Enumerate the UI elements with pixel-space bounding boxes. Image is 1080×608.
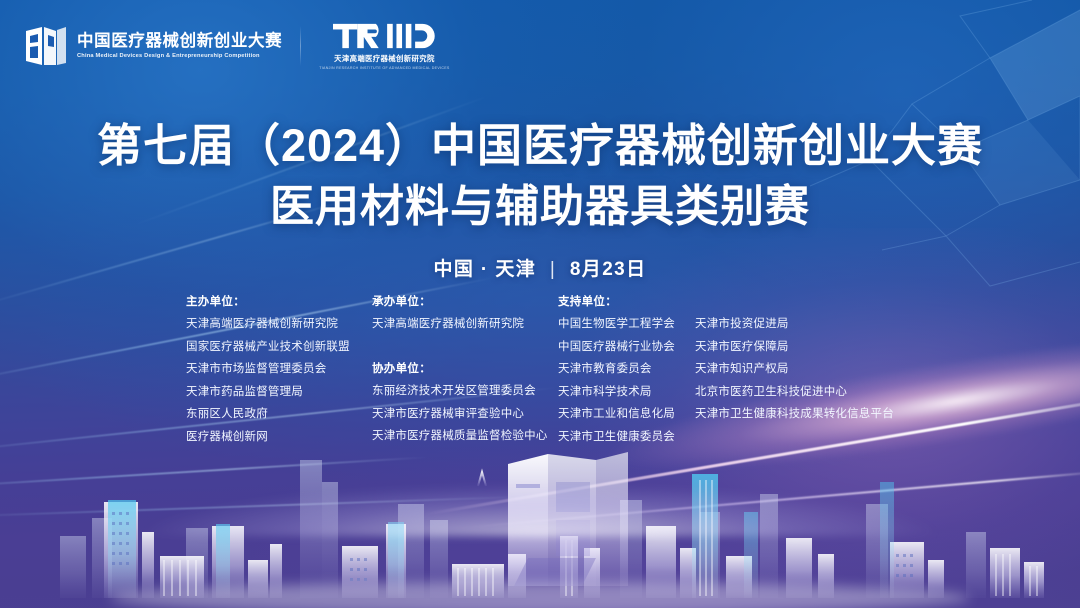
organizer-column-organizers: 承办单位： 天津高端医疗器械创新研究院 协办单位： 东丽经济技术开发区管理委员会…	[372, 291, 558, 448]
organizer-column-supporters-b: 天津市投资促进局 天津市医疗保障局 天津市知识产权局 北京市医药卫生科技促进中心…	[695, 291, 905, 426]
organizer-item: 天津市知识产权局	[695, 358, 905, 380]
organizer-item: 天津市卫生健康科技成果转化信息平台	[695, 403, 905, 425]
organizer-column-supporters-a: 支持单位： 中国生物医学工程学会 中国医疗器械行业协会 天津市教育委员会 天津市…	[558, 291, 695, 448]
organizer-item: 中国生物医学工程学会	[558, 313, 695, 335]
subtitle-line: 中国 · 天津 | 8月23日	[0, 254, 1080, 281]
light-streak	[0, 496, 530, 519]
organizer-column-hosts: 主办单位： 天津高端医疗器械创新研究院 国家医疗器械产业技术创新联盟 天津市市场…	[186, 291, 372, 448]
organizer-item: 东丽区人民政府	[186, 403, 372, 425]
organizer-heading: 承办单位：	[372, 291, 558, 313]
organizers-block: 主办单位： 天津高端医疗器械创新研究院 国家医疗器械产业技术创新联盟 天津市市场…	[186, 291, 905, 448]
title-line-1: 第七届（2024）中国医疗器械创新创业大赛	[0, 118, 1080, 175]
organizer-item: 医疗器械创新网	[186, 426, 372, 448]
organizer-item: 天津市医疗器械审评查验中心	[372, 403, 558, 425]
cmdc-logo-text: 中国医疗器械创新创业大赛 China Medical Devices Desig…	[77, 32, 282, 60]
light-streak	[0, 456, 430, 490]
organizer-item: 天津市教育委员会	[558, 358, 695, 380]
organizer-heading: 协办单位：	[372, 358, 558, 380]
trmd-logo-cn: 天津高端医疗器械创新研究院	[334, 53, 435, 64]
cmdc-logo-en: China Medical Devices Design & Entrepren…	[77, 53, 286, 60]
organizer-gap	[372, 336, 558, 358]
logo-bar: 中国医疗器械创新创业大赛 China Medical Devices Desig…	[24, 22, 450, 70]
open-door-building-icon	[508, 452, 628, 586]
organizer-item: 东丽经济技术开发区管理委员会	[372, 380, 558, 402]
organizer-item: 天津市医疗器械质量监督检验中心	[372, 425, 558, 447]
title-block: 第七届（2024）中国医疗器械创新创业大赛 医用材料与辅助器具类别赛	[0, 118, 1080, 234]
organizer-item: 天津市投资促进局	[695, 313, 905, 335]
trmd-wordmark-icon	[333, 22, 436, 50]
cmdc-logo-cn: 中国医疗器械创新创业大赛	[77, 32, 282, 51]
organizer-item: 天津市工业和信息化局	[558, 403, 695, 425]
subtitle-date: 8月23日	[570, 259, 647, 280]
organizer-item: 中国医疗器械行业协会	[558, 336, 695, 358]
event-poster: 中国医疗器械创新创业大赛 China Medical Devices Desig…	[0, 0, 1080, 608]
subtitle-location: 中国 · 天津	[433, 259, 536, 280]
organizer-item: 天津市药品监督管理局	[186, 381, 372, 403]
title-line-2: 医用材料与辅助器具类别赛	[0, 179, 1080, 234]
cmdc-logo: 中国医疗器械创新创业大赛 China Medical Devices Desig…	[24, 25, 282, 67]
organizer-heading: 主办单位：	[186, 291, 372, 313]
open-door-logo-icon	[24, 25, 68, 67]
trmd-logo-en: TIANJIN RESEARCH INSTITUTE OF ADVANCED M…	[319, 66, 449, 70]
logo-divider	[300, 26, 301, 66]
organizer-spacer	[695, 291, 905, 313]
ground-glow	[54, 466, 1026, 536]
organizer-item: 天津市医疗保障局	[695, 336, 905, 358]
pink-light-line-secondary	[471, 470, 1080, 528]
organizer-item: 天津市卫生健康委员会	[558, 426, 695, 448]
subtitle-separator: |	[550, 259, 556, 281]
organizer-item: 国家医疗器械产业技术创新联盟	[186, 336, 372, 358]
organizer-item: 天津高端医疗器械创新研究院	[186, 313, 372, 335]
organizer-heading: 支持单位：	[558, 291, 695, 313]
organizer-item: 天津高端医疗器械创新研究院	[372, 313, 558, 335]
organizer-item: 北京市医药卫生科技促进中心	[695, 381, 905, 403]
organizer-item: 天津市市场监督管理委员会	[186, 358, 372, 380]
organizer-item: 天津市科学技术局	[558, 381, 695, 403]
trmd-logo: 天津高端医疗器械创新研究院 TIANJIN RESEARCH INSTITUTE…	[319, 22, 449, 70]
